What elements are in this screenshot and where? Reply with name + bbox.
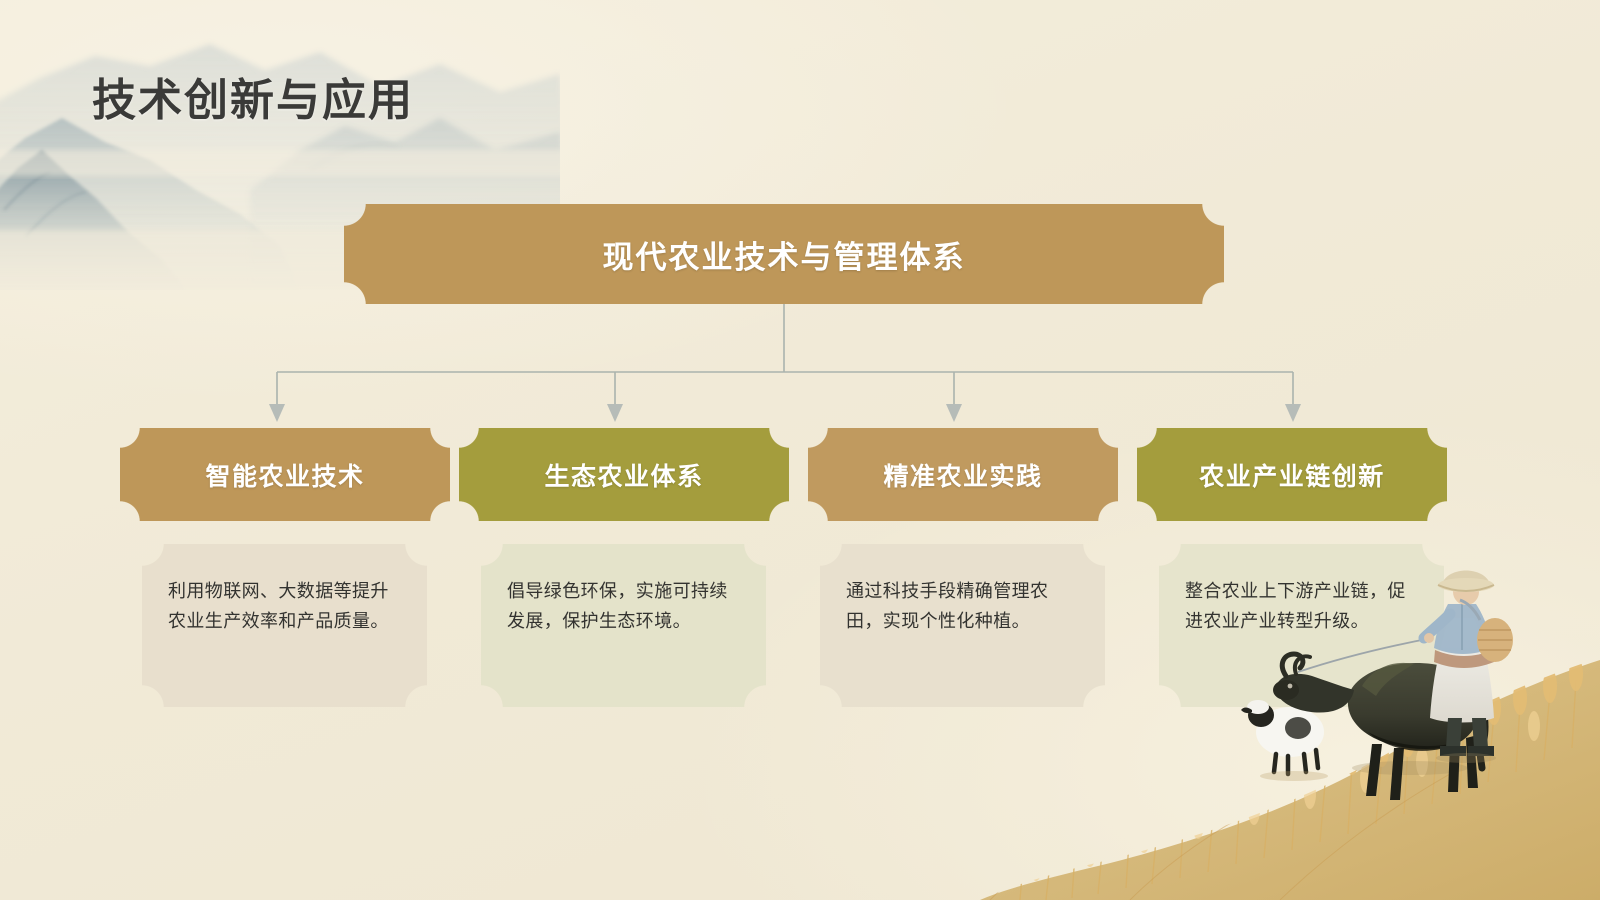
branch-header-3[interactable]: 精准农业实践 [808,428,1118,521]
branch-description-1: 利用物联网、大数据等提升农业生产效率和产品质量。 [168,576,401,636]
branch-body-3: 通过科技手段精确管理农田，实现个性化种植。 [820,544,1105,707]
branch-column-1: 智能农业技术 利用物联网、大数据等提升农业生产效率和产品质量。 [120,428,450,707]
branch-description-2: 倡导绿色环保，实施可持续发展，保护生态环境。 [507,576,740,636]
page-title: 技术创新与应用 [92,64,414,128]
root-node[interactable]: 现代农业技术与管理体系 [344,204,1224,304]
branch-header-label-2: 生态农业体系 [544,457,703,493]
branch-body-1: 利用物联网、大数据等提升农业生产效率和产品质量。 [142,544,427,707]
branch-column-2: 生态农业体系 倡导绿色环保，实施可持续发展，保护生态环境。 [459,428,789,707]
branch-description-3: 通过科技手段精确管理农田，实现个性化种植。 [846,576,1079,636]
branch-header-4[interactable]: 农业产业链创新 [1137,428,1447,521]
branch-header-1[interactable]: 智能农业技术 [120,428,450,521]
root-node-label: 现代农业技术与管理体系 [603,232,966,277]
branch-body-2: 倡导绿色环保，实施可持续发展，保护生态环境。 [481,544,766,707]
branch-body-4: 整合农业上下游产业链，促进农业产业转型升级。 [1159,544,1444,707]
branch-description-4: 整合农业上下游产业链，促进农业产业转型升级。 [1185,576,1418,636]
branch-header-2[interactable]: 生态农业体系 [459,428,789,521]
slide-canvas: 技术创新与应用 现代农业技术与管理体系 智能农业技术 利用物联 [0,0,1600,900]
branch-column-4: 农业产业链创新 整合农业上下游产业链，促进农业产业转型升级。 [1137,428,1467,707]
branch-header-label-1: 智能农业技术 [205,457,364,493]
branch-column-3: 精准农业实践 通过科技手段精确管理农田，实现个性化种植。 [798,428,1128,707]
branch-header-label-4: 农业产业链创新 [1199,457,1385,493]
branch-header-label-3: 精准农业实践 [883,457,1042,493]
